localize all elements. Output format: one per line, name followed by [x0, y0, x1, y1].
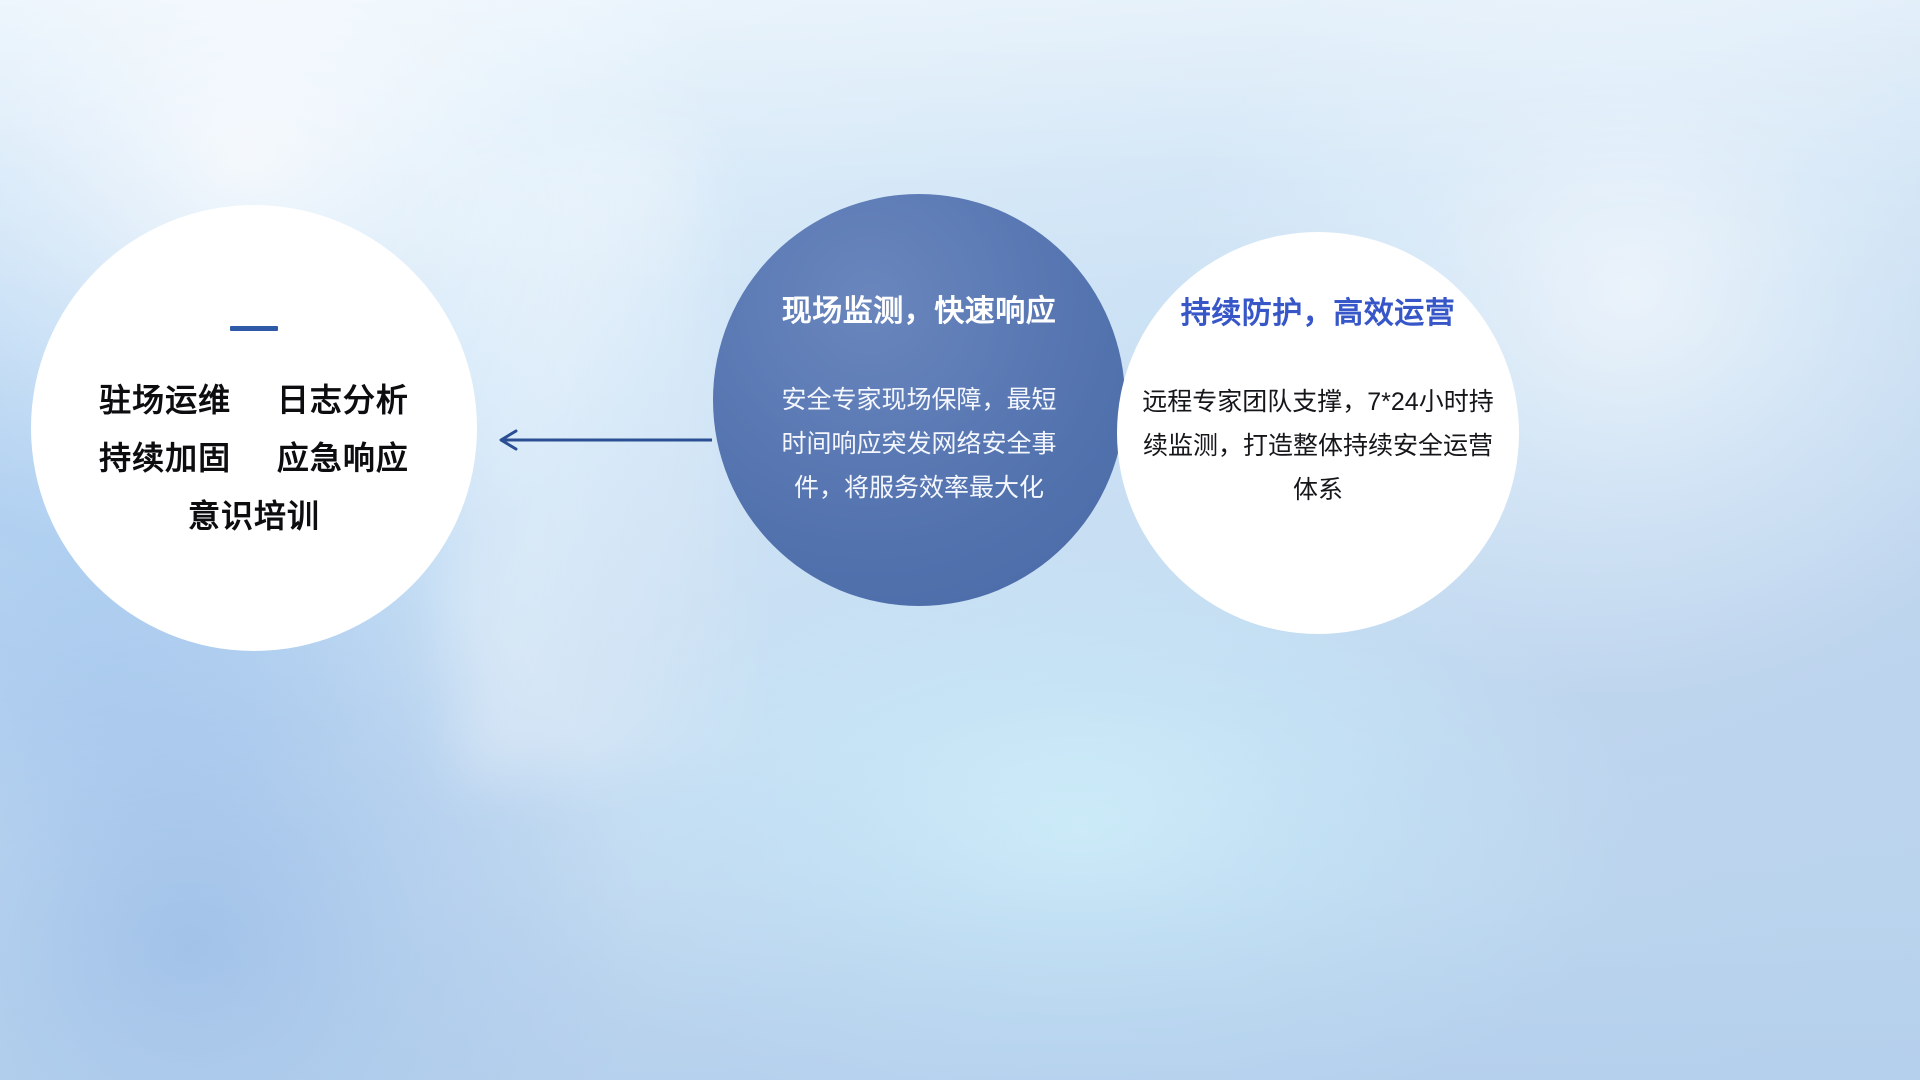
- capability-circle-left[interactable]: 驻场运维 日志分析 持续加固 应急响应 意识培训: [31, 205, 477, 651]
- circle-description: 远程专家团队支撑，7*24小时持续监测，打造整体持续安全运营体系: [1142, 380, 1494, 512]
- keyword-item: 持续加固: [99, 440, 231, 476]
- keyword-row: 意识培训: [99, 487, 409, 545]
- keyword-row: 持续加固 应急响应: [99, 429, 409, 487]
- circle-description: 安全专家现场保障，最短时间响应突发网络安全事件，将服务效率最大化: [779, 378, 1059, 510]
- circle-title: 持续防护，高效运营: [1181, 288, 1456, 332]
- keyword-item: 驻场运维: [99, 382, 231, 418]
- keyword-item: 日志分析: [277, 382, 409, 418]
- title-divider: [230, 326, 278, 331]
- keyword-row: 驻场运维 日志分析: [99, 371, 409, 429]
- background-bottom-tint: [0, 740, 1920, 1080]
- capability-circle-right[interactable]: 持续防护，高效运营 远程专家团队支撑，7*24小时持续监测，打造整体持续安全运营…: [1117, 232, 1519, 634]
- slide-canvas: 驻场运维 日志分析 持续加固 应急响应 意识培训 现场监测，快速响应 安全专家现…: [0, 0, 1920, 1080]
- flow-arrow-left-icon: [490, 424, 715, 456]
- circle-title: 现场监测，快速响应: [782, 286, 1057, 330]
- keyword-item: 应急响应: [277, 440, 409, 476]
- capability-circle-middle[interactable]: 现场监测，快速响应 安全专家现场保障，最短时间响应突发网络安全事件，将服务效率最…: [713, 194, 1125, 606]
- keyword-item: 意识培训: [188, 498, 320, 534]
- keyword-list: 驻场运维 日志分析 持续加固 应急响应 意识培训: [99, 371, 409, 545]
